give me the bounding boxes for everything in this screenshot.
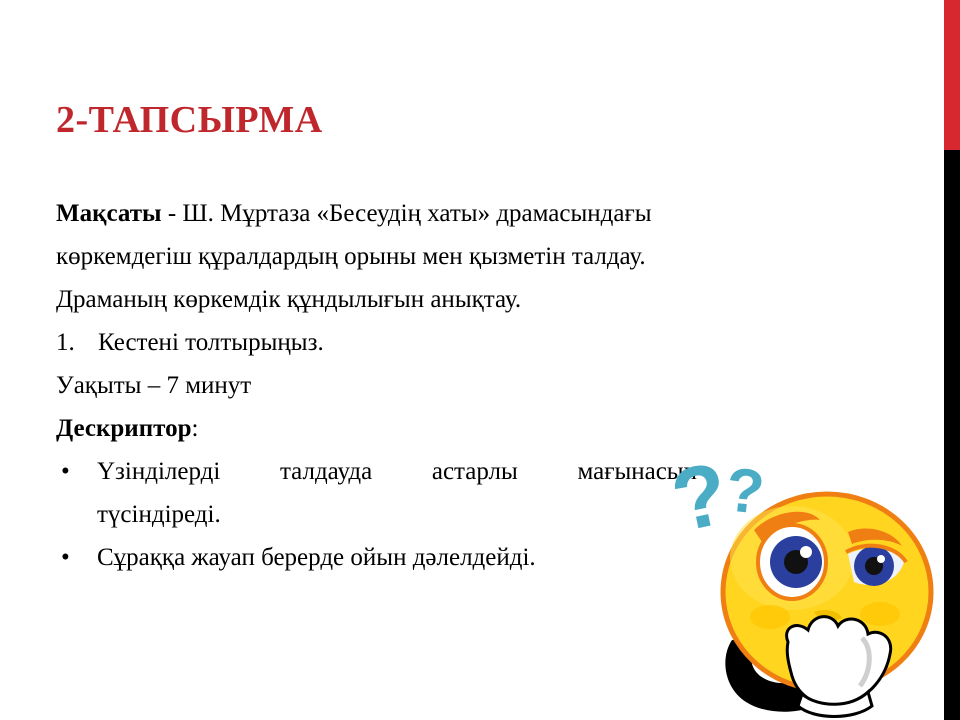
goal-text: - Ш. Мұртаза «Бесеудің хаты» драмасындағ… (162, 200, 652, 227)
bullet-1-line-1: Үзінділерді талдауда астарлы мағынасын (97, 450, 697, 493)
thinking-face-emoji: ? ? (662, 462, 960, 720)
left-cheek (750, 605, 790, 629)
item-number: 1. (56, 321, 98, 364)
right-eye-glint (877, 555, 885, 563)
goal-line-2: көркемдегіш құралдардың орыны мен қызмет… (56, 235, 896, 278)
right-cheek (860, 602, 900, 626)
goal-label: Мақсаты (56, 200, 162, 227)
descriptor-line: Дескриптор: (56, 407, 896, 450)
item-text: Кестені толтырыңыз. (98, 329, 324, 356)
right-edge-red-bar (944, 0, 960, 150)
left-eye-glint (800, 546, 812, 558)
goal-line-3: Драманың көркемдік құндылығын анықтау. (56, 278, 896, 321)
time-line: Уақыты – 7 минут (56, 364, 896, 407)
goal-line: Мақсаты - Ш. Мұртаза «Бесеудің хаты» дра… (56, 192, 896, 235)
descriptor-colon: : (191, 415, 198, 442)
bullet-2-line-1: Сұраққа жауап берерде ойын дәлелдейді. (97, 544, 536, 571)
page-title: 2-ТАПСЫРМА (56, 100, 896, 142)
slide-canvas: 2-ТАПСЫРМА Мақсаты - Ш. Мұртаза «Бесеуді… (0, 0, 960, 720)
descriptor-label: Дескриптор (56, 415, 191, 442)
numbered-item-1: 1.Кестені толтырыңыз. (56, 321, 896, 364)
bullet-marker-icon: • (61, 450, 70, 493)
bullet-marker-icon: • (61, 536, 70, 579)
